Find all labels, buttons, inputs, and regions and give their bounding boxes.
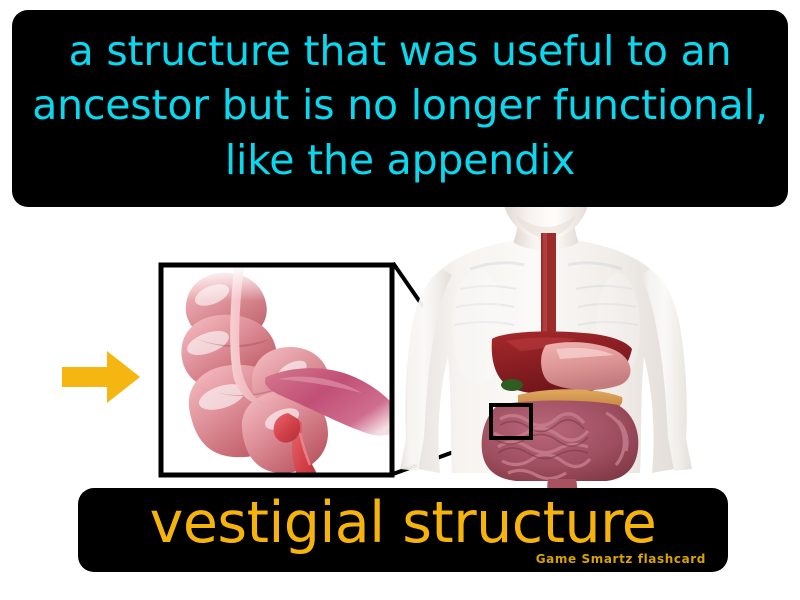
arrow-right-icon bbox=[62, 351, 140, 403]
term-title: vestigial structure bbox=[78, 489, 728, 557]
definition-panel: a structure that was useful to an ancest… bbox=[12, 10, 788, 207]
small-intestine-mass bbox=[482, 401, 639, 482]
rectum-shape bbox=[547, 479, 577, 488]
flashcard: a structure that was useful to an ancest… bbox=[0, 0, 800, 600]
esophagus-highlight bbox=[543, 233, 547, 341]
human-torso-figure bbox=[400, 207, 692, 488]
closeup-top-fade bbox=[161, 265, 392, 301]
title-panel: vestigial structure Game Smartz flashcar… bbox=[78, 488, 728, 572]
attribution-text: Game Smartz flashcard bbox=[536, 552, 706, 566]
gallbladder-shape bbox=[501, 379, 523, 391]
definition-text: a structure that was useful to an ancest… bbox=[26, 24, 774, 188]
illustration-area bbox=[0, 207, 800, 488]
magnified-closeup-box bbox=[161, 265, 404, 488]
